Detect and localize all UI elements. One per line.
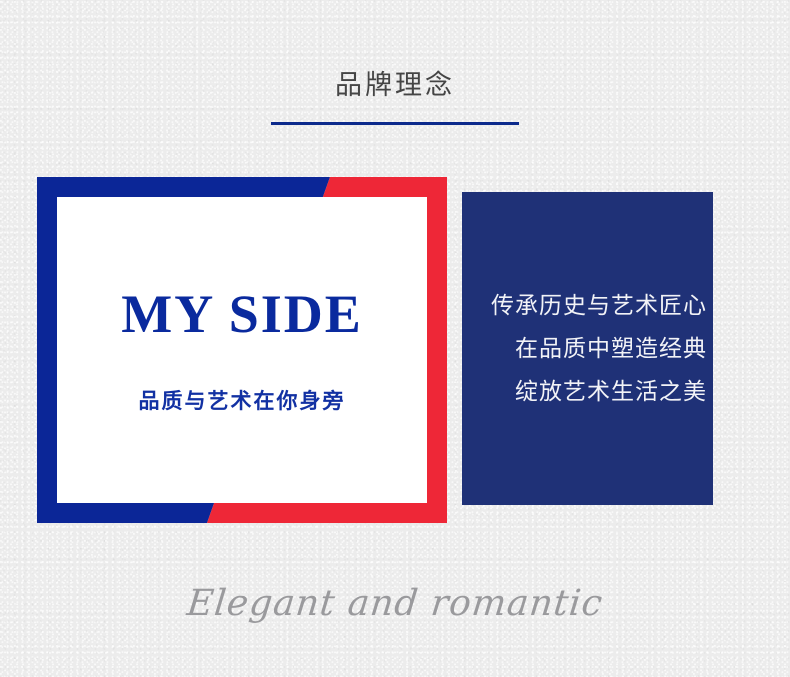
flag-content: MY SIDE 品质与艺术在你身旁 bbox=[57, 197, 427, 503]
brand-statement-line-3: 绽放艺术生活之美 bbox=[515, 370, 707, 413]
brand-tagline: 品质与艺术在你身旁 bbox=[139, 387, 346, 417]
brand-statement-line-1: 传承历史与艺术匠心 bbox=[491, 284, 707, 327]
page-header: 品牌理念 bbox=[0, 66, 790, 125]
flag-inner-panel: MY SIDE 品质与艺术在你身旁 bbox=[57, 197, 427, 503]
brand-flag-card: MY SIDE 品质与艺术在你身旁 bbox=[37, 177, 447, 523]
brand-statement-line-2: 在品质中塑造经典 bbox=[515, 327, 707, 370]
brand-name: MY SIDE bbox=[121, 283, 363, 345]
page-title: 品牌理念 bbox=[0, 66, 790, 104]
brand-statement-panel: 传承历史与艺术匠心 在品质中塑造经典 绽放艺术生活之美 bbox=[462, 192, 713, 505]
footer-script-slogan: Elegant and romantic bbox=[0, 578, 790, 630]
title-underline-divider bbox=[271, 122, 519, 125]
